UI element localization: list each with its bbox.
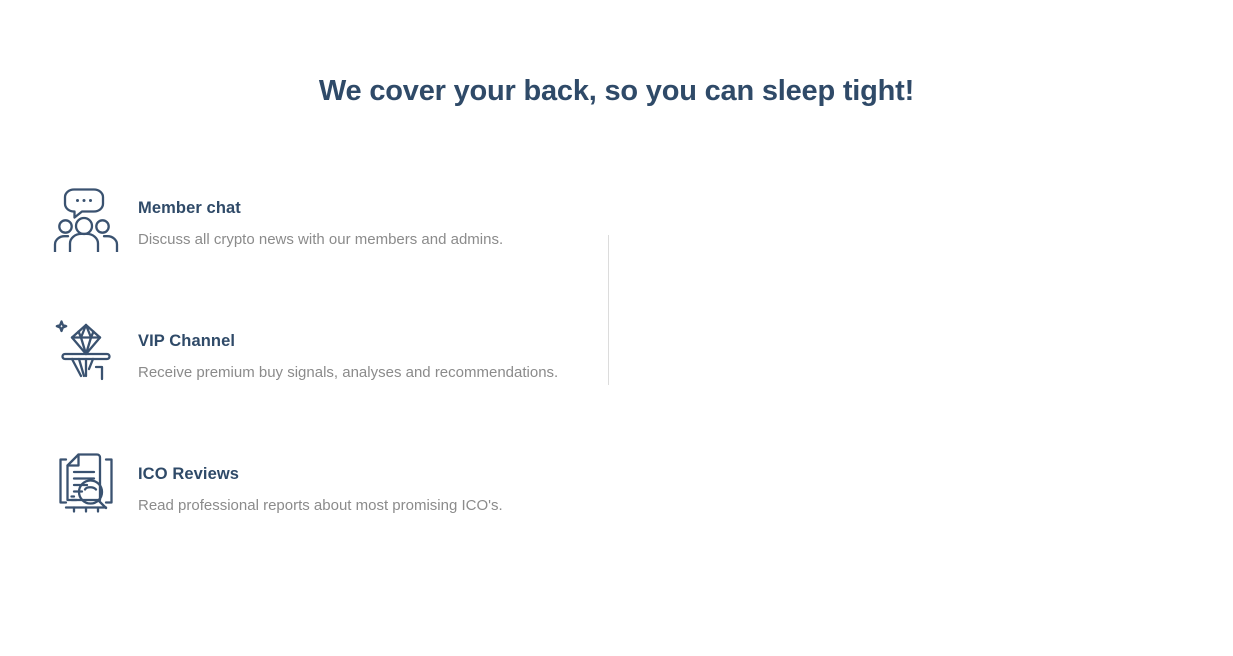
feature-item-member-chat[interactable]: Member chat Discuss all crypto news with… [0,182,608,315]
feature-item-market-analysis[interactable]: Market analysis Read detailed technical … [608,182,1233,315]
features-grid: Member chat Discuss all crypto news with… [0,182,1233,581]
feature-description: Receive premium buy signals, analyses an… [138,363,578,383]
feature-title: ICO Reviews [138,464,578,484]
member-chat-icon [52,184,120,252]
page-title: We cover your back, so you can sleep tig… [0,72,1233,110]
ico-reviews-document-search-icon [52,450,120,518]
features-section: We cover your back, so you can sleep tig… [0,0,1233,562]
vip-diamond-icon [52,317,120,385]
feature-item-ico-reviews[interactable]: ICO Reviews Read professional reports ab… [0,448,608,581]
feature-title: VIP Channel [138,331,578,351]
feature-item-personal-support[interactable]: Personal Support Get help and portfolio … [608,448,1233,581]
feature-title: Member chat [138,198,578,218]
feature-item-recommendations[interactable]: Recommendations Get signal alerts, chart… [608,315,1233,448]
feature-text-member-chat: Member chat Discuss all crypto news with… [120,182,578,250]
feature-description: Discuss all crypto news with our members… [138,230,578,250]
feature-text-vip-channel: VIP Channel Receive premium buy signals,… [120,315,578,383]
feature-item-vip-channel[interactable]: VIP Channel Receive premium buy signals,… [0,315,608,448]
feature-text-ico-reviews: ICO Reviews Read professional reports ab… [120,448,578,516]
feature-description: Read professional reports about most pro… [138,496,578,516]
